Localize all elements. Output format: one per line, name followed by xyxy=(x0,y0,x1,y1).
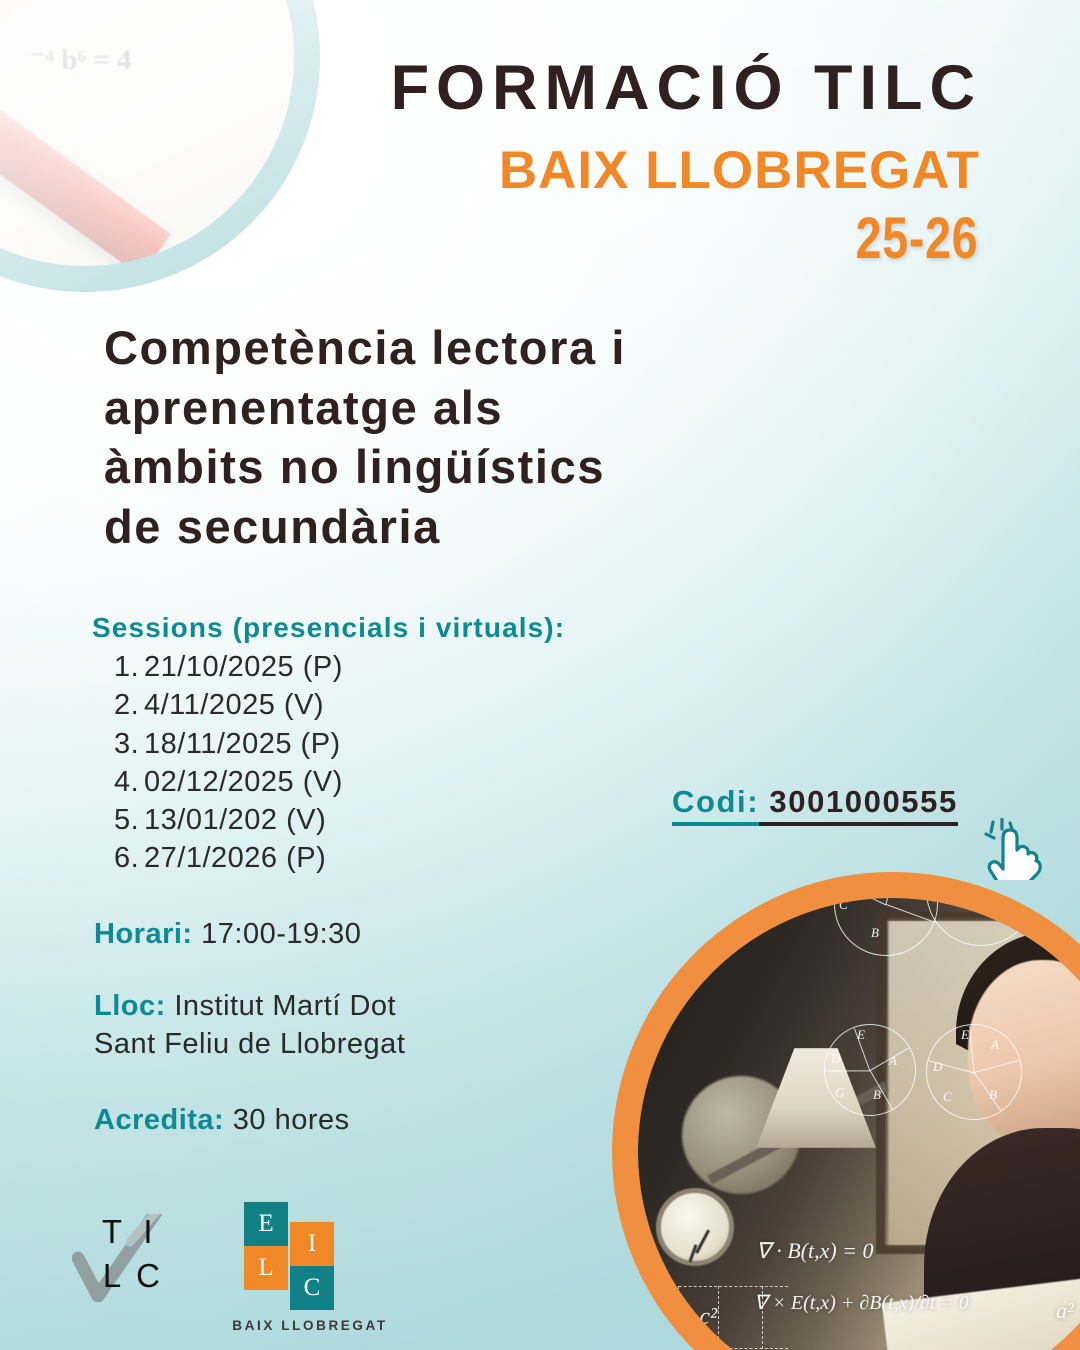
course-title-line: àmbits no lingüístics xyxy=(104,437,984,497)
page-title: FORMACIÓ TILC xyxy=(391,52,982,124)
list-item: 2.4/11/2025 (V) xyxy=(92,686,732,724)
location-label: Lloc: xyxy=(94,990,166,1022)
session-number: 4. xyxy=(114,763,144,801)
session-number: 1. xyxy=(114,648,144,686)
page-subtitle: BAIX LLOBREGAT xyxy=(499,140,980,201)
tilc-letter-grid: T I L C xyxy=(94,1210,166,1298)
course-title-line: de secundària xyxy=(104,497,984,557)
session-number: 2. xyxy=(114,686,144,724)
elc-baix-llobregat-logo: E I L C BAIX LLOBREGAT xyxy=(232,1200,382,1318)
course-code-inner: Codi: 3001000555 xyxy=(672,784,958,820)
session-date: 4/11/2025 (V) xyxy=(144,689,324,721)
elc-letter-i: I xyxy=(290,1222,334,1266)
list-item: 4.02/12/2025 (V) xyxy=(92,763,732,801)
pointing-hand-click-icon xyxy=(983,818,1047,880)
list-item: 5.13/01/202 (V) xyxy=(92,801,732,839)
list-item: 3.18/11/2025 (P) xyxy=(92,725,732,763)
elc-letter-l: L xyxy=(244,1246,288,1290)
session-date: 13/01/202 (V) xyxy=(144,804,326,836)
tilc-logo: T I L C xyxy=(72,1208,182,1300)
tilc-letter: T xyxy=(94,1210,130,1254)
course-code-block[interactable]: Codi: 3001000555 xyxy=(672,784,958,826)
accreditation-value: 30 hores xyxy=(224,1104,349,1136)
location-line: Lloc: Institut Martí Dot Sant Feliu de L… xyxy=(94,988,654,1063)
elc-logo-caption: BAIX LLOBREGAT xyxy=(210,1318,410,1333)
session-date: 21/10/2025 (P) xyxy=(144,651,343,683)
elc-letter-e: E xyxy=(244,1202,288,1246)
sessions-list: 1.21/10/2025 (P) 2.4/11/2025 (V) 3.18/11… xyxy=(92,648,732,878)
course-title: Competència lectora i aprenentatge als à… xyxy=(104,318,984,557)
course-code-label: Codi: xyxy=(672,784,759,826)
tilc-letter: C xyxy=(130,1254,166,1298)
session-date: 27/1/2026 (P) xyxy=(144,842,326,874)
schedule-line: Horari: 17:00-19:30 xyxy=(94,916,361,954)
session-number: 5. xyxy=(114,801,144,839)
session-date: 02/12/2025 (V) xyxy=(144,766,343,798)
tilc-letter: L xyxy=(94,1254,130,1298)
schedule-value: 17:00-19:30 xyxy=(193,918,362,950)
course-title-line: aprenentatge als xyxy=(104,378,984,438)
location-value-line2: Sant Feliu de Llobregat xyxy=(94,1028,405,1060)
location-value: Institut Martí Dot xyxy=(166,990,396,1022)
sessions-section: Sessions (presencials i virtuals): 1.21/… xyxy=(92,612,732,878)
list-item: 1.21/10/2025 (P) xyxy=(92,648,732,686)
schedule-label: Horari: xyxy=(94,918,193,950)
sessions-heading: Sessions (presencials i virtuals): xyxy=(92,612,732,644)
session-date: 18/11/2025 (P) xyxy=(144,728,341,760)
course-code-value: 3001000555 xyxy=(759,784,958,819)
accreditation-label: Acredita: xyxy=(94,1104,224,1136)
list-item: 6.27/1/2026 (P) xyxy=(92,839,732,877)
tilc-letter: I xyxy=(130,1210,166,1254)
course-title-line: Competència lectora i xyxy=(104,318,984,378)
poster-canvas: ³x⁶ y⁶ z¹² ⁹ x⁶ y ⁻⁴ b⁶ = 4 )³ x⁵ y⁴ C xyxy=(0,0,1080,1350)
elc-letter-c: C xyxy=(290,1266,334,1310)
session-number: 3. xyxy=(114,725,144,763)
year-badge: 25-26 xyxy=(855,205,978,272)
session-number: 6. xyxy=(114,839,144,877)
accreditation-line: Acredita: 30 hores xyxy=(94,1102,350,1140)
